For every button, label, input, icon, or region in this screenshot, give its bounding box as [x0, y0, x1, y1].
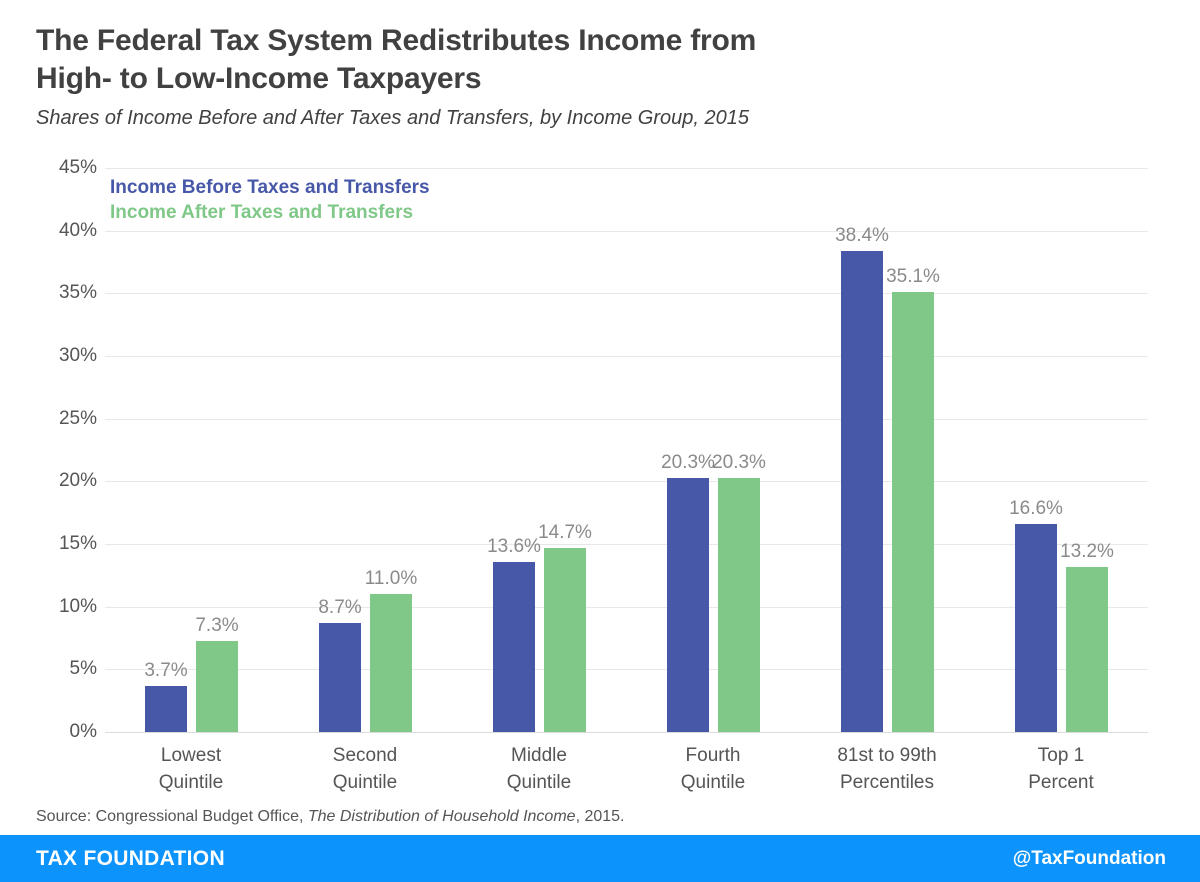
- footer-bar: TAX FOUNDATION @TaxFoundation: [0, 835, 1200, 882]
- bar-group: 8.7%11.0%: [319, 168, 412, 732]
- x-axis-category-line: Middle: [449, 742, 629, 769]
- y-axis-tick-label: 40%: [35, 220, 97, 242]
- bar-income-after[interactable]: 11.0%: [370, 594, 412, 732]
- x-axis-category-line: Percent: [971, 769, 1151, 796]
- bar-income-after[interactable]: 7.3%: [196, 641, 238, 732]
- gridline: [105, 168, 1148, 169]
- bar-income-before[interactable]: 13.6%: [493, 562, 535, 732]
- gridline: [105, 669, 1148, 670]
- bar-value-label: 20.3%: [712, 452, 766, 474]
- x-axis-category-line: Lowest: [101, 742, 281, 769]
- y-axis-tick-label: 35%: [35, 282, 97, 304]
- gridline: [105, 607, 1148, 608]
- bar-value-label: 14.7%: [538, 522, 592, 544]
- x-axis-category-label: FourthQuintile: [623, 742, 803, 796]
- x-axis-category-line: Percentiles: [797, 769, 977, 796]
- footer-brand-label: TAX FOUNDATION: [36, 847, 225, 871]
- bar-value-label: 7.3%: [195, 615, 238, 637]
- bar-income-before[interactable]: 8.7%: [319, 623, 361, 732]
- x-axis-category-label: 81st to 99thPercentiles: [797, 742, 977, 796]
- bar-value-label: 13.2%: [1060, 541, 1114, 563]
- bar-value-label: 20.3%: [661, 452, 715, 474]
- bar-group: 3.7%7.3%: [145, 168, 238, 732]
- page-title-line-1: The Federal Tax System Redistributes Inc…: [36, 22, 1156, 60]
- x-axis-category-label: LowestQuintile: [101, 742, 281, 796]
- bar-value-label: 11.0%: [365, 568, 417, 590]
- x-axis-category-label: MiddleQuintile: [449, 742, 629, 796]
- page-title-line-2: High- to Low-Income Taxpayers: [36, 60, 1156, 98]
- gridline: [105, 544, 1148, 545]
- y-axis-tick-label: 30%: [35, 345, 97, 367]
- bar-income-after[interactable]: 35.1%: [892, 292, 934, 732]
- x-axis-category-line: Second: [275, 742, 455, 769]
- bar-income-before[interactable]: 3.7%: [145, 686, 187, 732]
- bar-income-before[interactable]: 20.3%: [667, 478, 709, 732]
- bar-value-label: 16.6%: [1009, 498, 1063, 520]
- plot-area: 45%40%35%30%25%20%15%10%5%0%3.7%7.3%8.7%…: [105, 168, 1148, 732]
- bar-group: 20.3%20.3%: [667, 168, 760, 732]
- y-axis-tick-label: 10%: [35, 596, 97, 618]
- bar-value-label: 13.6%: [487, 536, 541, 558]
- bar-group: 13.6%14.7%: [493, 168, 586, 732]
- bar-value-label: 38.4%: [835, 225, 889, 247]
- bar-value-label: 35.1%: [886, 266, 940, 288]
- y-axis-tick-label: 45%: [35, 157, 97, 179]
- y-axis-tick-label: 25%: [35, 408, 97, 430]
- x-axis-category-line: 81st to 99th: [797, 742, 977, 769]
- source-suffix: , 2015.: [576, 808, 625, 825]
- source-publication-title: The Distribution of Household Income: [308, 808, 576, 825]
- x-axis-category-label: Top 1Percent: [971, 742, 1151, 796]
- y-axis-tick-label: 0%: [35, 721, 97, 743]
- gridline: [105, 419, 1148, 420]
- gridline: [105, 481, 1148, 482]
- x-axis-category-line: Quintile: [101, 769, 281, 796]
- bar-income-before[interactable]: 16.6%: [1015, 524, 1057, 732]
- bar-income-after[interactable]: 14.7%: [544, 548, 586, 732]
- x-axis-category-label: SecondQuintile: [275, 742, 455, 796]
- x-axis-category-line: Quintile: [275, 769, 455, 796]
- chart-subtitle: Shares of Income Before and After Taxes …: [36, 105, 1156, 131]
- chart-page: The Federal Tax System Redistributes Inc…: [0, 0, 1200, 882]
- legend-item-before: Income Before Taxes and Transfers: [110, 175, 430, 200]
- bar-income-after[interactable]: 20.3%: [718, 478, 760, 732]
- y-axis-tick-label: 15%: [35, 533, 97, 555]
- gridline: [105, 356, 1148, 357]
- legend-item-after: Income After Taxes and Transfers: [110, 200, 430, 225]
- x-axis-category-line: Quintile: [623, 769, 803, 796]
- x-axis-category-line: Quintile: [449, 769, 629, 796]
- x-axis-category-line: Fourth: [623, 742, 803, 769]
- gridline: [105, 293, 1148, 294]
- gridline: [105, 732, 1148, 733]
- footer-social-handle[interactable]: @TaxFoundation: [1013, 848, 1166, 870]
- x-axis-category-line: Top 1: [971, 742, 1151, 769]
- bar-income-before[interactable]: 38.4%: [841, 251, 883, 732]
- gridline: [105, 231, 1148, 232]
- chart-header: The Federal Tax System Redistributes Inc…: [36, 22, 1156, 131]
- y-axis-tick-label: 20%: [35, 470, 97, 492]
- bar-group: 38.4%35.1%: [841, 168, 934, 732]
- y-axis-tick-label: 5%: [35, 658, 97, 680]
- bar-value-label: 8.7%: [318, 597, 361, 619]
- bar-value-label: 3.7%: [144, 660, 187, 682]
- bar-income-after[interactable]: 13.2%: [1066, 567, 1108, 732]
- chart-legend: Income Before Taxes and TransfersIncome …: [110, 175, 430, 225]
- bar-group: 16.6%13.2%: [1015, 168, 1108, 732]
- source-note: Source: Congressional Budget Office, The…: [36, 808, 625, 826]
- source-prefix: Source: Congressional Budget Office,: [36, 808, 308, 825]
